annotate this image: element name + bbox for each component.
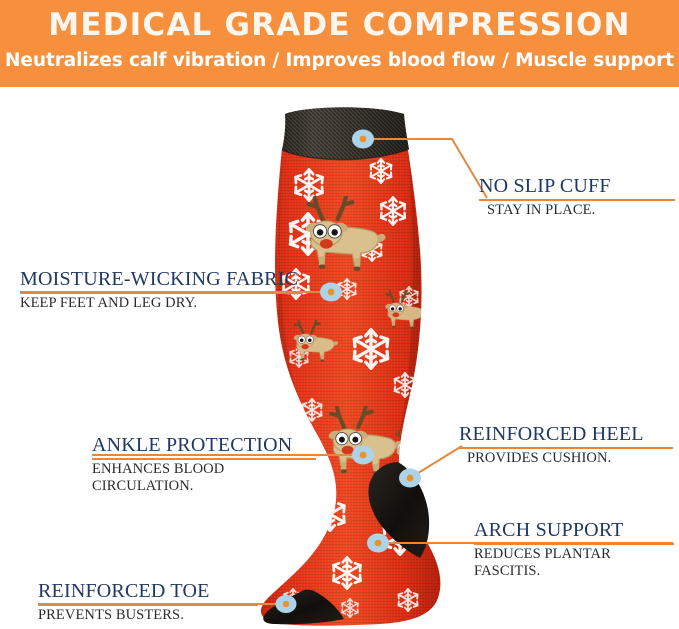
- callout-rule: [38, 604, 258, 606]
- callout-title: ANKLE PROTECTION: [92, 434, 316, 457]
- callout-subtitle: STAY IN PLACE.: [487, 202, 675, 219]
- callout-rule: [474, 543, 674, 545]
- callout-rule: [459, 447, 673, 449]
- sock-body: [260, 100, 460, 629]
- callout-title: MOISTURE-WICKING FABRIC: [20, 268, 302, 291]
- infographic-root: MEDICAL GRADE COMPRESSION Neutralizes ca…: [0, 0, 679, 629]
- callout-subtitle: KEEP FEET AND LEG DRY.: [20, 295, 302, 312]
- callout-rule: [20, 292, 302, 294]
- callout-subtitle: ENHANCES BLOOD CIRCULATION.: [92, 461, 316, 494]
- callout-reinforced-toe: REINFORCED TOE PREVENTS BUSTERS.: [38, 580, 258, 624]
- callout-title: NO SLIP CUFF: [479, 175, 675, 198]
- callout-title: REINFORCED HEEL: [459, 423, 673, 446]
- callout-title: REINFORCED TOE: [38, 580, 258, 603]
- callout-rule: [479, 199, 675, 201]
- callout-rule: [92, 458, 316, 460]
- callout-subtitle: PROVIDES CUSHION.: [467, 450, 673, 467]
- callout-reinforced-heel: REINFORCED HEEL PROVIDES CUSHION.: [459, 423, 673, 467]
- callout-subtitle: REDUCES PLANTAR FASCITIS.: [474, 546, 674, 579]
- callout-no-slip-cuff: NO SLIP CUFF STAY IN PLACE.: [479, 175, 675, 219]
- callout-ankle-protection: ANKLE PROTECTION ENHANCES BLOOD CIRCULAT…: [92, 434, 316, 494]
- callout-moisture-wicking-fabric: MOISTURE-WICKING FABRIC KEEP FEET AND LE…: [20, 268, 302, 312]
- callout-arch-support: ARCH SUPPORT REDUCES PLANTAR FASCITIS.: [474, 519, 674, 579]
- callout-title: ARCH SUPPORT: [474, 519, 674, 542]
- callout-subtitle: PREVENTS BUSTERS.: [38, 607, 258, 624]
